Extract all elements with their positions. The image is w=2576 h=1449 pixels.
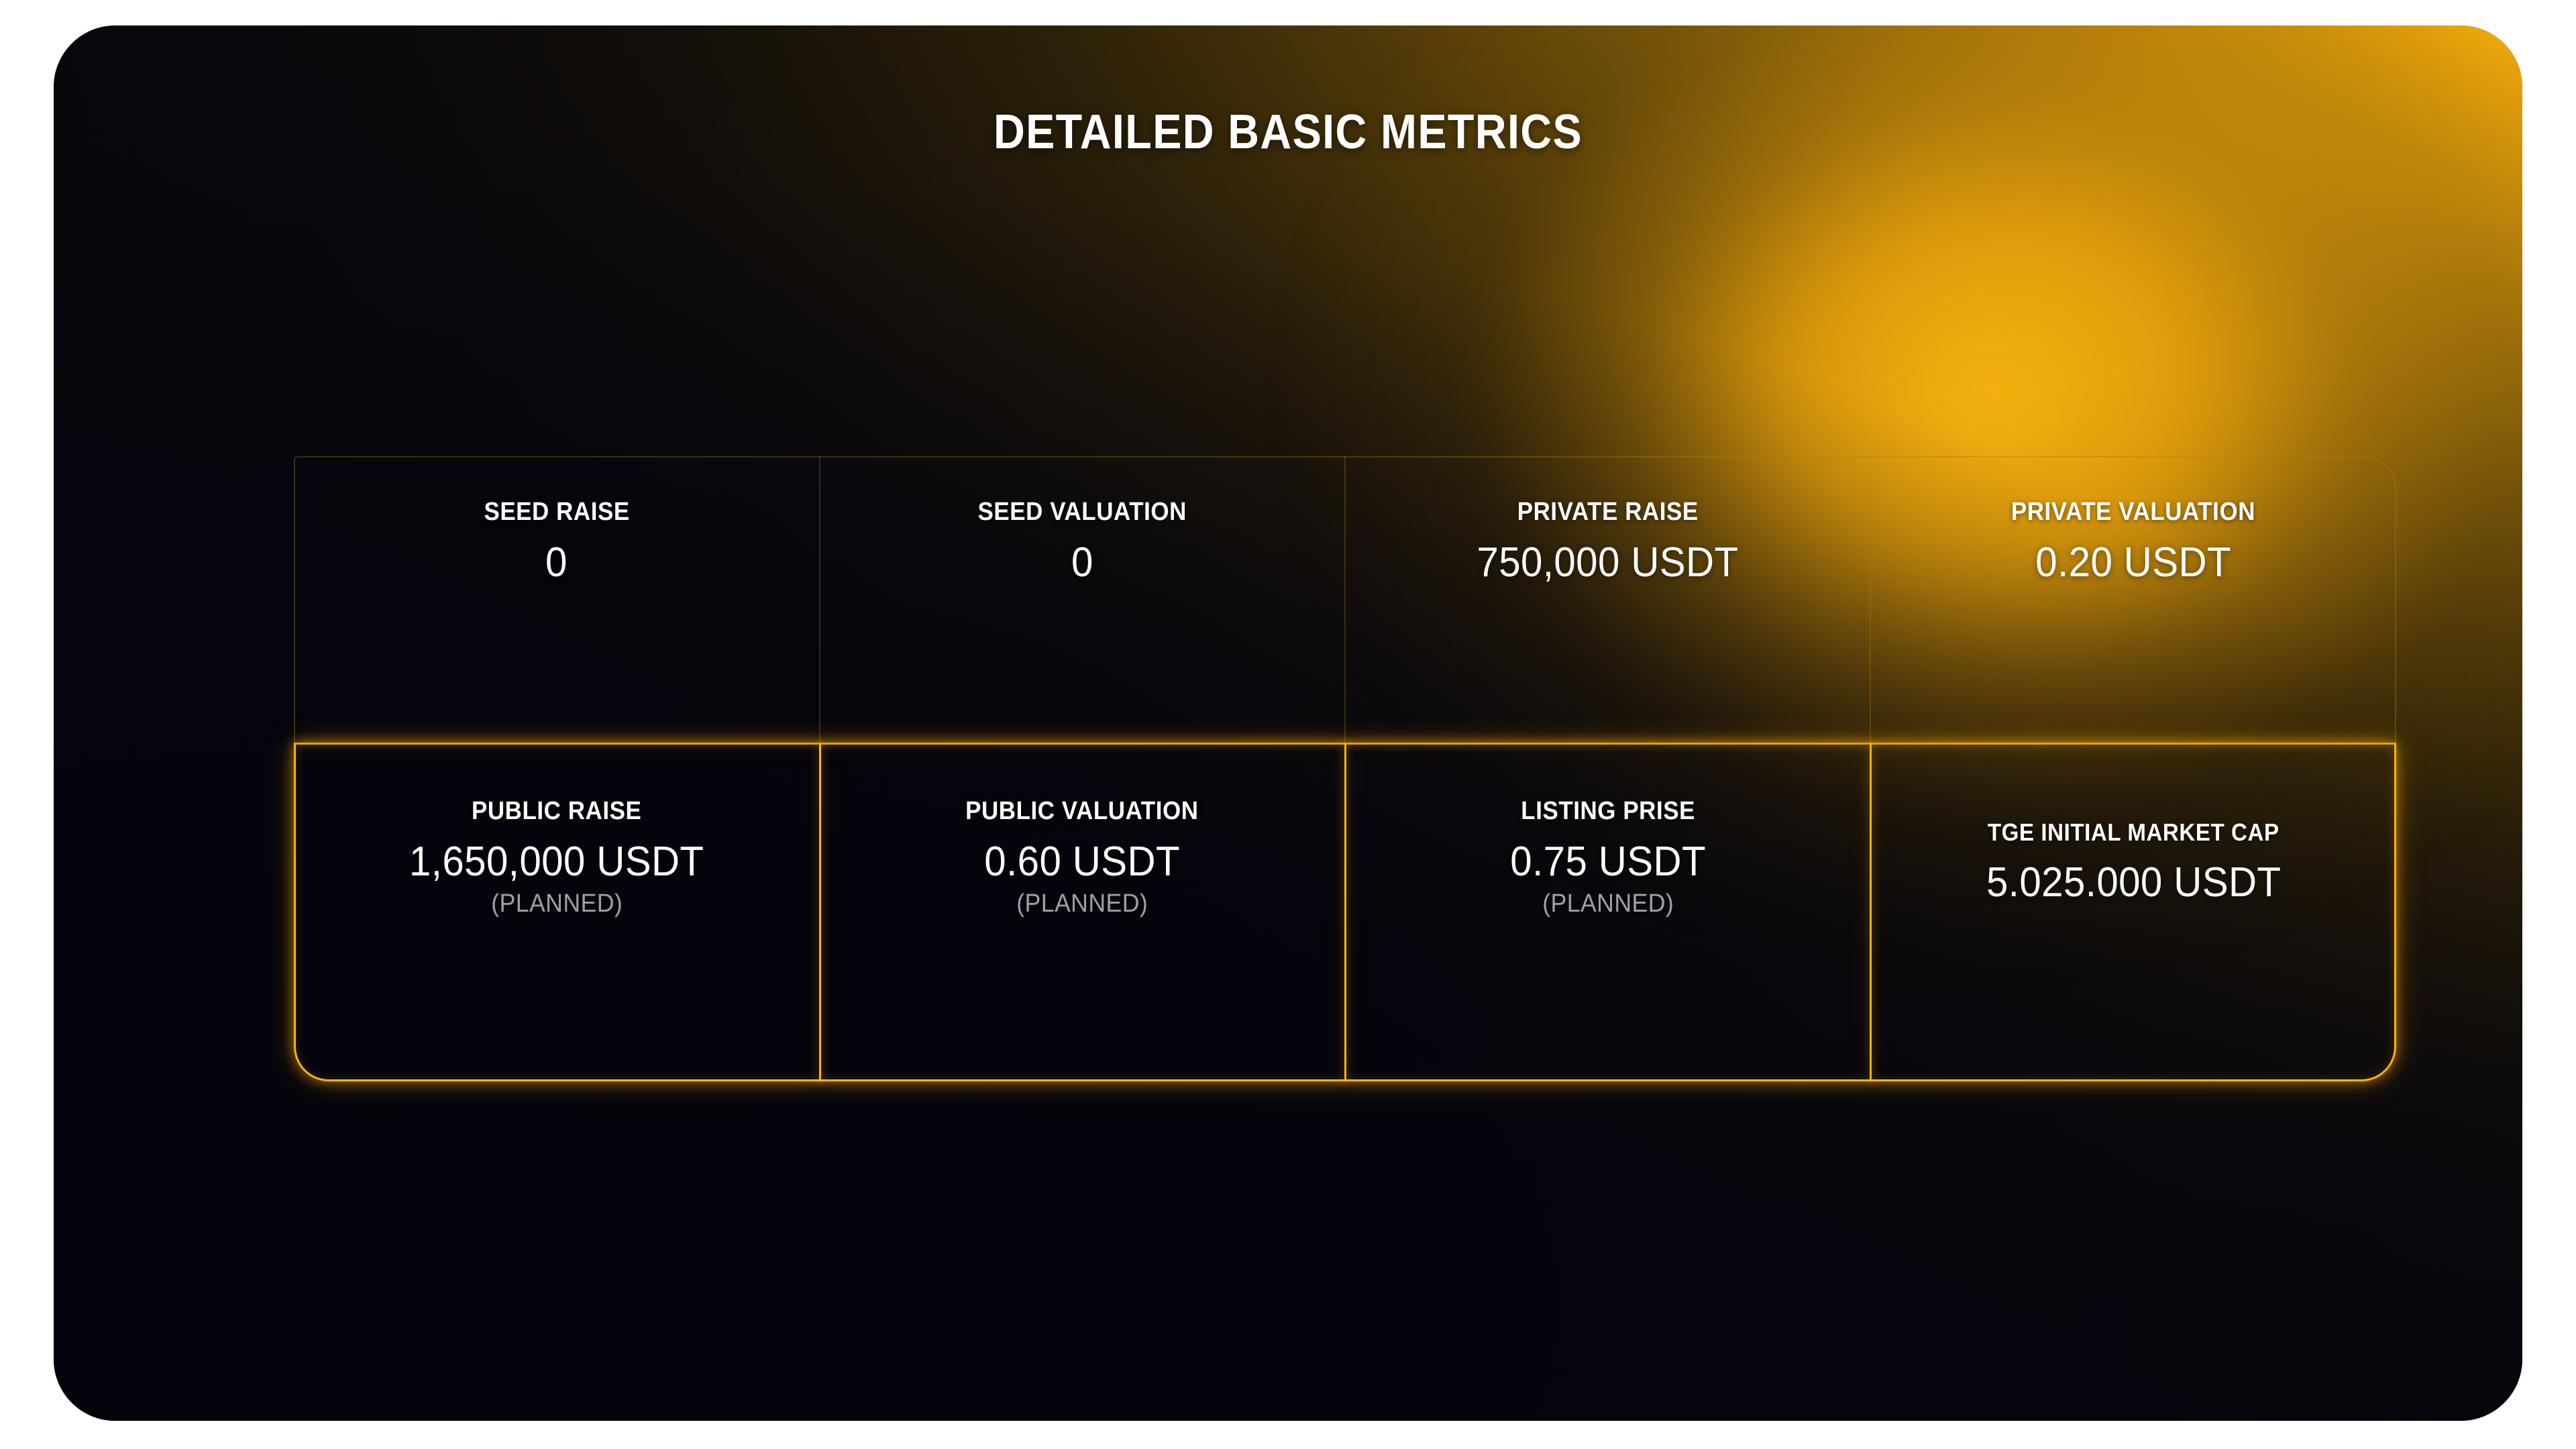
metric-value: 0.20 USDT: [2035, 539, 2231, 586]
page-title: DETAILED BASIC METRICS: [177, 105, 2399, 160]
table-row: PUBLIC RAISE 1,650,000 USDT (PLANNED) PU…: [294, 743, 2396, 1081]
metrics-table: SEED RAISE 0 SEED VALUATION 0 PRIVATE RA…: [294, 456, 2396, 1081]
metric-cell-public-raise[interactable]: PUBLIC RAISE 1,650,000 USDT (PLANNED): [294, 743, 820, 1081]
metric-value: 0: [545, 539, 568, 586]
metric-value: 750,000 USDT: [1477, 539, 1739, 586]
table-row: SEED RAISE 0 SEED VALUATION 0 PRIVATE RA…: [294, 456, 2396, 743]
metric-note: (PLANNED): [491, 890, 623, 918]
slide-canvas: DETAILED BASIC METRICS SEED RAISE 0 SEED…: [0, 0, 2576, 1449]
metrics-card: DETAILED BASIC METRICS SEED RAISE 0 SEED…: [54, 25, 2522, 1421]
metric-label: LISTING PRISE: [1521, 797, 1695, 826]
metric-cell-seed-valuation[interactable]: SEED VALUATION 0: [820, 456, 1346, 743]
metric-label: SEED VALUATION: [978, 498, 1187, 527]
metric-value: 5.025.000 USDT: [1986, 859, 2281, 906]
metric-label: PRIVATE VALUATION: [2011, 498, 2255, 527]
metric-label: PUBLIC VALUATION: [966, 797, 1199, 826]
metric-cell-private-raise[interactable]: PRIVATE RAISE 750,000 USDT: [1345, 456, 1871, 743]
metric-note: (PLANNED): [1016, 890, 1148, 918]
metric-value: 0: [1071, 539, 1093, 586]
metric-note: (PLANNED): [1542, 890, 1674, 918]
metric-cell-seed-raise[interactable]: SEED RAISE 0: [294, 456, 820, 743]
metric-label: PRIVATE RAISE: [1517, 498, 1699, 527]
metric-cell-private-valuation[interactable]: PRIVATE VALUATION 0.20 USDT: [1871, 456, 2397, 743]
metric-label: TGE INITIAL MARKET CAP: [1988, 818, 2279, 847]
metric-cell-tge-initial-market-cap[interactable]: TGE INITIAL MARKET CAP 5.025.000 USDT: [1871, 743, 2397, 1081]
metric-value: 0.60 USDT: [984, 838, 1180, 885]
metric-label: PUBLIC RAISE: [472, 797, 641, 826]
metric-cell-public-valuation[interactable]: PUBLIC VALUATION 0.60 USDT (PLANNED): [820, 743, 1346, 1081]
metric-label: SEED RAISE: [484, 498, 629, 527]
metric-value: 1,650,000 USDT: [409, 838, 704, 885]
metric-cell-listing-price[interactable]: LISTING PRISE 0.75 USDT (PLANNED): [1345, 743, 1871, 1081]
metric-value: 0.75 USDT: [1510, 838, 1706, 885]
